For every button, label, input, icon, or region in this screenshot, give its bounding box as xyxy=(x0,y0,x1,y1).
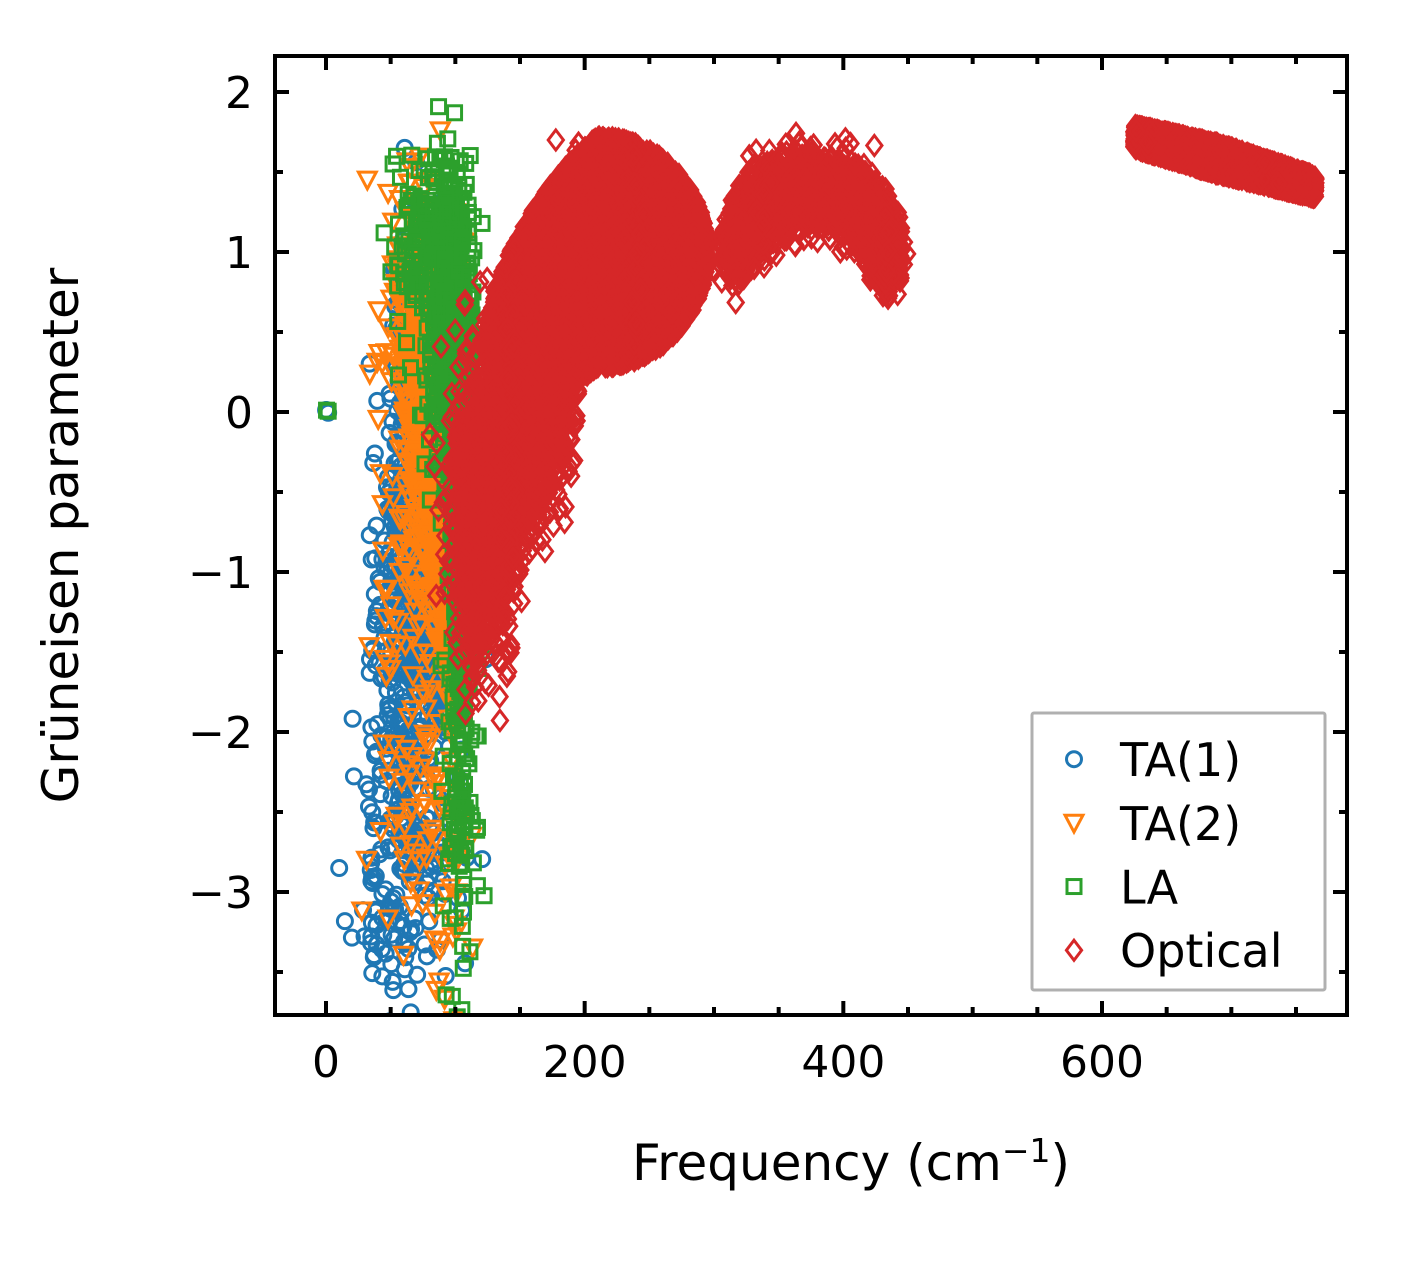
tick-label: 600 xyxy=(1060,1037,1144,1088)
series-optical xyxy=(422,116,1323,731)
scatter-figure: 0200400600210−1−2−3Frequency (cm−1)Grüne… xyxy=(0,0,1406,1264)
tick-label: 2 xyxy=(225,68,253,119)
tick-label: 200 xyxy=(543,1037,627,1088)
tick-label: 1 xyxy=(225,228,253,279)
tick-label: −3 xyxy=(188,868,253,919)
legend-label: TA(1) xyxy=(1119,733,1241,787)
x-axis-label: Frequency (cm−1) xyxy=(632,1131,1070,1192)
legend-label: Optical xyxy=(1120,924,1282,978)
tick-label: −2 xyxy=(188,708,253,759)
y-axis-label: Grüneisen parameter xyxy=(32,267,90,803)
plot-canvas: 0200400600210−1−2−3Frequency (cm−1)Grüne… xyxy=(0,0,1406,1264)
tick-label: 0 xyxy=(312,1037,340,1088)
tick-label: 400 xyxy=(801,1037,885,1088)
legend[interactable]: TA(1)TA(2)LAOptical xyxy=(1032,713,1325,990)
legend-label: LA xyxy=(1120,861,1179,915)
tick-label: 0 xyxy=(225,388,253,439)
tick-label: −1 xyxy=(188,548,253,599)
legend-label: TA(2) xyxy=(1119,797,1241,851)
